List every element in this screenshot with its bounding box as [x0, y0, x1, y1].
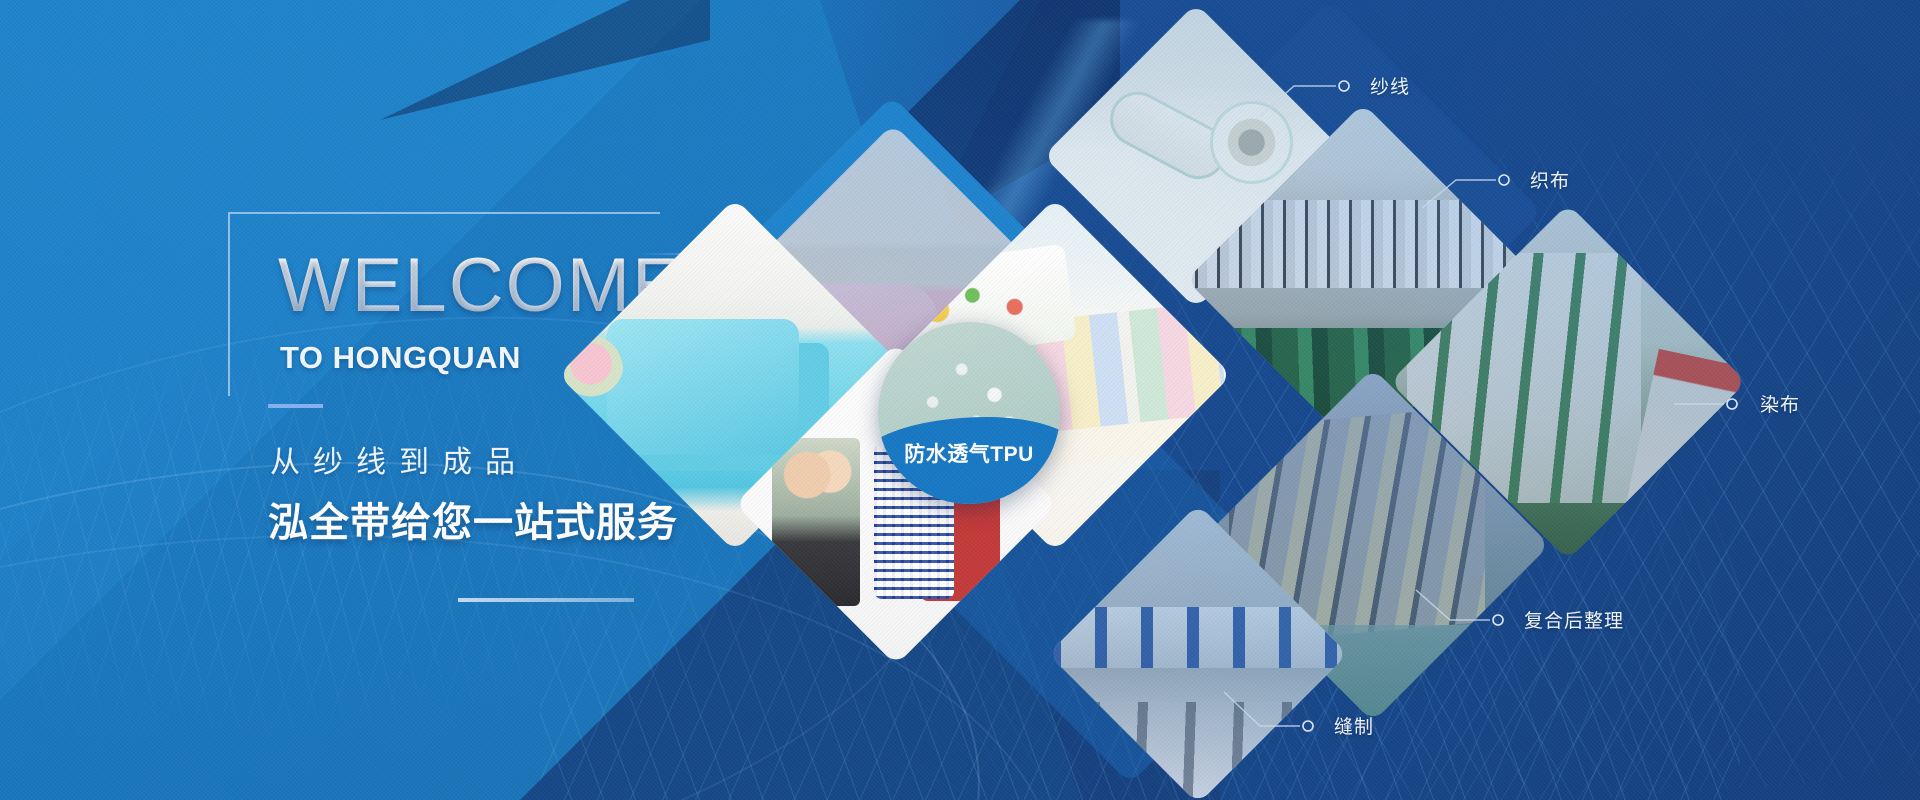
slogan-chinese: 泓全带给您一站式服务 — [268, 490, 678, 548]
callout-label-yarn: 纱线 — [1370, 72, 1410, 99]
callout-label-laminating: 复合后整理 — [1524, 606, 1624, 633]
callout-label-dyeing: 染布 — [1760, 390, 1800, 417]
welcome-banner: WELCOME TO HONGQUAN 从纱线到成品 泓全带给您一站式服务 — [0, 0, 1920, 800]
accent-rule-short — [268, 404, 323, 408]
badge-label: 防水透气TPU — [878, 438, 1060, 468]
page-subtitle: TO HONGQUAN — [280, 340, 521, 376]
accent-rule-long — [458, 598, 634, 602]
callout-label-weaving: 织布 — [1530, 166, 1570, 193]
status-badge: 防水透气TPU — [878, 322, 1060, 504]
tagline-chinese: 从纱线到成品 — [270, 437, 528, 481]
callout-label-sewing: 缝制 — [1334, 712, 1374, 739]
